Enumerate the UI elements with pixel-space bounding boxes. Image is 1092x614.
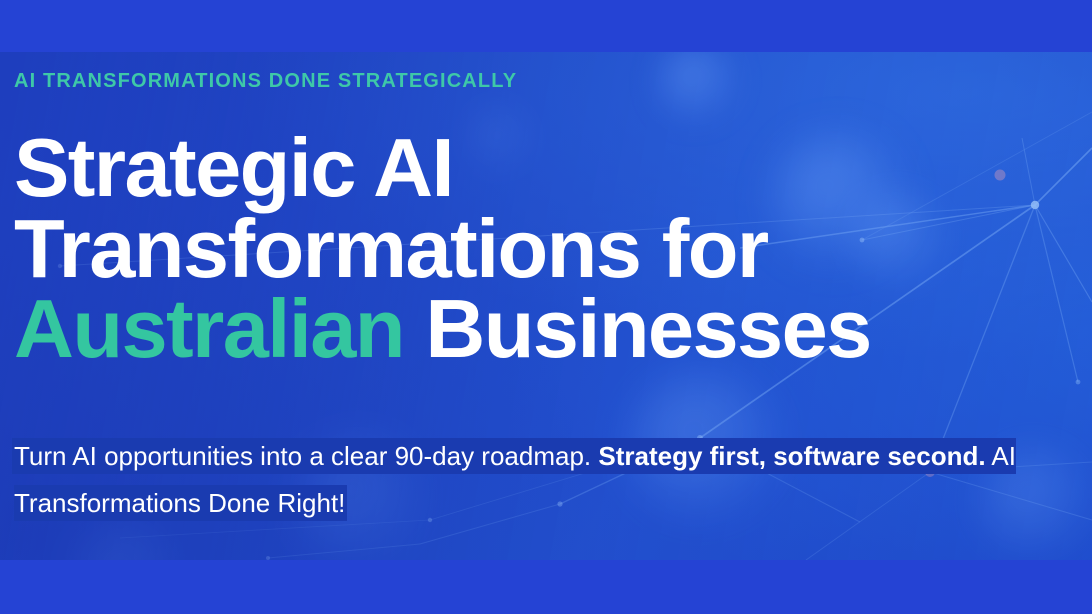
headline-accent-word: Australian — [14, 282, 404, 375]
headline-line-2: Transformations for — [14, 209, 1074, 290]
hero-eyebrow: AI TRANSFORMATIONS DONE STRATEGICALLY — [14, 70, 517, 93]
hero-banner: AI TRANSFORMATIONS DONE STRATEGICALLY St… — [0, 0, 1092, 614]
headline-line-1: Strategic AI — [14, 128, 1074, 209]
subcopy-highlight-run: Turn AI opportunities into a clear 90-da… — [14, 440, 1016, 519]
hero-headline: Strategic AI Transformations for Austral… — [14, 128, 1074, 370]
headline-line-3-rest: Businesses — [425, 282, 870, 375]
hero-subcopy: Turn AI opportunities into a clear 90-da… — [14, 433, 1072, 528]
subcopy-part-1: Turn AI opportunities into a clear 90-da… — [14, 441, 598, 471]
top-brand-band — [0, 0, 1092, 52]
headline-line-3: Australian Businesses — [14, 289, 1074, 370]
subcopy-bold-1: Strategy first, software second. — [598, 441, 985, 471]
hero-content: AI TRANSFORMATIONS DONE STRATEGICALLY St… — [0, 52, 1092, 560]
